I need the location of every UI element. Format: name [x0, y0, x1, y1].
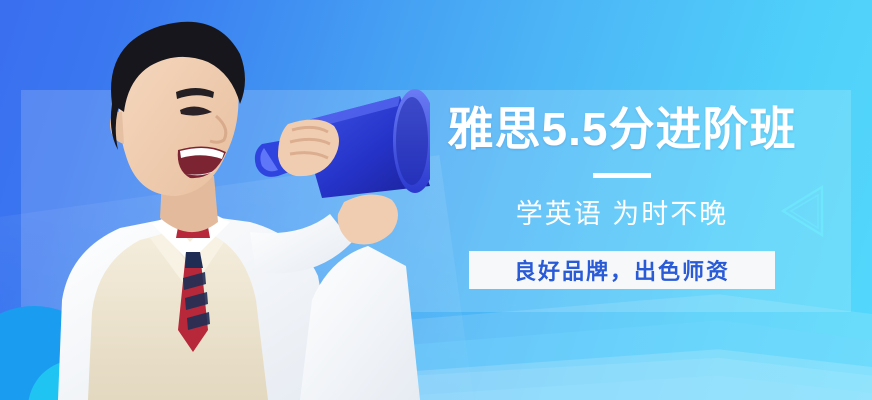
- person-with-megaphone-illustration: [0, 0, 430, 400]
- page-title: 雅思5.5分进阶班: [412, 104, 832, 155]
- status-badge: 良好品牌，出色师资: [469, 251, 775, 289]
- promo-banner: 雅思5.5分进阶班 学英语 为时不晚 良好品牌，出色师资: [0, 0, 872, 400]
- subtitle: 学英语 为时不晚: [412, 192, 832, 231]
- banner-text-block: 雅思5.5分进阶班 学英语 为时不晚 良好品牌，出色师资: [412, 104, 832, 289]
- title-divider: [593, 173, 651, 178]
- badge-label: 良好品牌，出色师资: [514, 254, 730, 286]
